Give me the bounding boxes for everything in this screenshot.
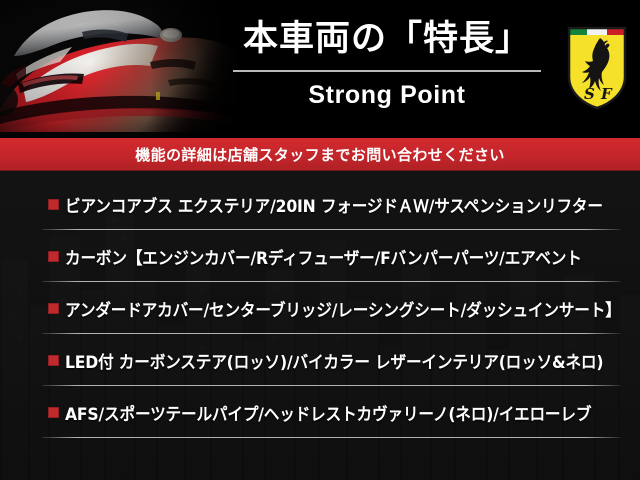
title-divider xyxy=(233,70,541,72)
feature-list: ビアンコアブス エクステリア/20IN フォージドＡＷ/サスペンションリフター … xyxy=(0,178,640,438)
ferrari-shield-icon: S F xyxy=(566,25,628,111)
contact-banner: 機能の詳細は店舗スタッフまでお問い合わせください xyxy=(0,138,640,171)
title-block: 本車両の「特長」 Strong Point xyxy=(228,16,546,110)
list-item: カーボン【エンジンカバー/Rディフューザー/Fバンパーパーツ/エアベント xyxy=(0,230,640,282)
feature-text: AFS/スポーツテールパイプ/ヘッドレストカヴァリーノ(ネロ)/イエローレブ xyxy=(65,400,591,425)
ferrari-supercar-front-icon xyxy=(0,0,236,138)
bullet-square-icon xyxy=(48,355,59,366)
svg-text:F: F xyxy=(600,85,613,103)
strong-point-slide: 本車両の「特長」 Strong Point xyxy=(0,0,640,480)
feature-text: LED付 カーボンステア(ロッソ)/バイカラー レザーインテリア(ロッソ&ネロ) xyxy=(65,348,603,373)
feature-text: カーボン【エンジンカバー/Rディフューザー/Fバンパーパーツ/エアベント xyxy=(65,244,582,269)
feature-text: アンダードアカバー/センターブリッジ/レーシングシート/ダッシュインサート】 xyxy=(65,296,621,321)
list-item: AFS/スポーツテールパイプ/ヘッドレストカヴァリーノ(ネロ)/イエローレブ xyxy=(0,386,640,438)
bullet-square-icon xyxy=(48,251,59,262)
list-item: LED付 カーボンステア(ロッソ)/バイカラー レザーインテリア(ロッソ&ネロ) xyxy=(0,334,640,386)
car-photo xyxy=(0,0,236,138)
page-subtitle: Strong Point xyxy=(228,81,546,110)
header-bar: 本車両の「特長」 Strong Point xyxy=(0,0,640,138)
page-title: 本車両の「特長」 xyxy=(228,16,546,62)
feature-text: ビアンコアブス エクステリア/20IN フォージドＡＷ/サスペンションリフター xyxy=(65,192,603,217)
bullet-square-icon xyxy=(48,199,59,210)
contact-banner-text: 機能の詳細は店舗スタッフまでお問い合わせください xyxy=(135,144,505,165)
list-item: ビアンコアブス エクステリア/20IN フォージドＡＷ/サスペンションリフター xyxy=(0,178,640,230)
bullet-square-icon xyxy=(48,303,59,314)
list-item: アンダードアカバー/センターブリッジ/レーシングシート/ダッシュインサート】 xyxy=(0,282,640,334)
row-divider xyxy=(42,437,620,438)
svg-text:S: S xyxy=(584,85,595,103)
bullet-square-icon xyxy=(48,407,59,418)
